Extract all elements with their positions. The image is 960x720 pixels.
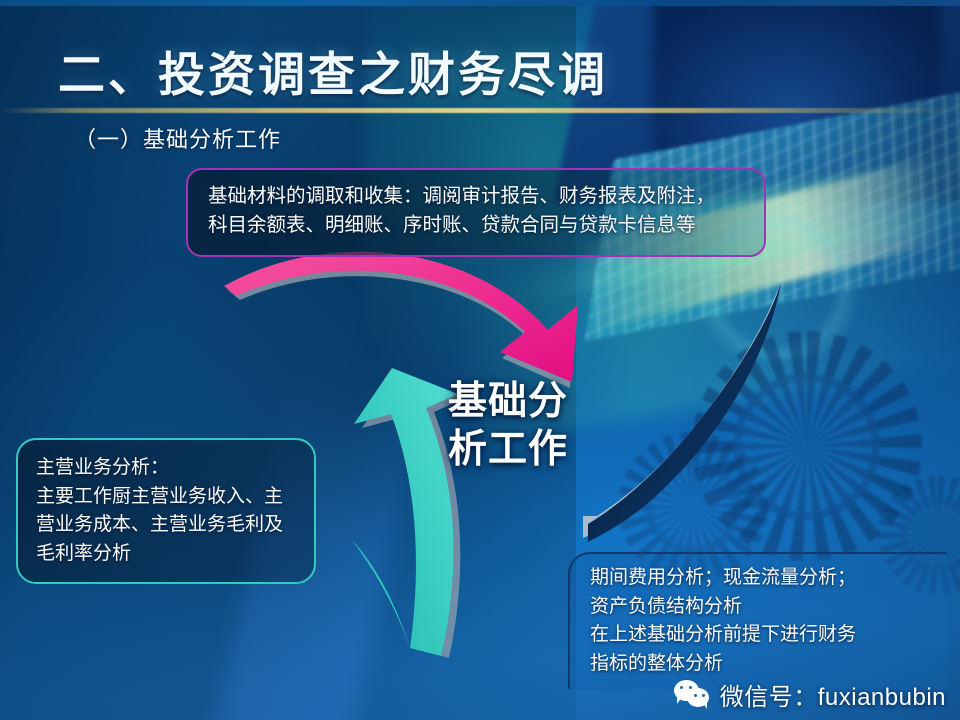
callout-left-main-business: 主营业务分析： 主要工作厨主营业务收入、主 营业务成本、主营业务毛利及 毛利率分… [16, 438, 316, 584]
title-divider-rule [0, 108, 960, 113]
background-top-band [0, 0, 960, 6]
page-title: 二、投资调查之财务尽调 [58, 36, 608, 105]
slide-canvas: 二、投资调查之财务尽调 （一）基础分析工作 [0, 0, 960, 720]
watermark: 微信号：fuxianbubin [674, 677, 946, 712]
callout-bottom-expenses: 期间费用分析；现金流量分析； 资产负债结构分析 在上述基础分析前提下进行财务 指… [568, 552, 948, 690]
center-label: 基础分 析工作 [448, 378, 568, 473]
callout-top-materials: 基础材料的调取和收集：调阅审计报告、财务报表及附注， 科目余额表、明细账、序时账… [186, 168, 766, 257]
watermark-text: 微信号：fuxianbubin [720, 677, 946, 712]
wechat-icon [674, 680, 712, 710]
section-subtitle: （一）基础分析工作 [74, 122, 281, 154]
